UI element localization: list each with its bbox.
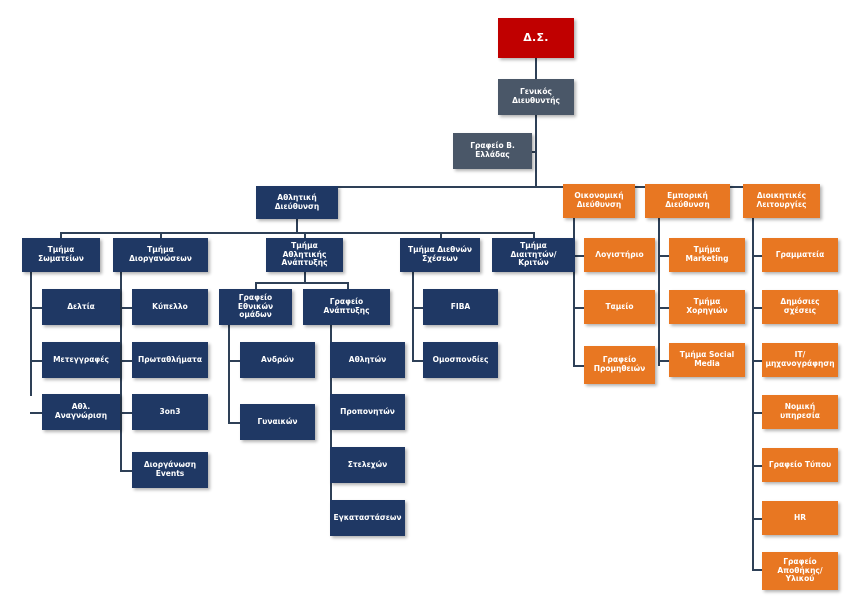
connector-events-4 (120, 470, 132, 472)
connector-dev-down (304, 272, 306, 282)
node-clubs-child-1[interactable]: Δελτία (42, 289, 120, 325)
connector-nat-2 (228, 422, 240, 424)
connector-events-3 (120, 412, 132, 414)
node-admin-child-7[interactable]: Γραφείο Αποθήκης/Υλικού (762, 552, 838, 590)
node-admin-child-2[interactable]: Δημόσιες σχέσεις (762, 290, 838, 324)
node-events-child-1[interactable]: Κύπελλο (132, 289, 208, 325)
connector-drop-natteams (255, 282, 257, 289)
node-clubs-child-3[interactable]: Αθλ. Αναγνώριση (42, 394, 120, 430)
node-dept-clubs[interactable]: Τμήμα Σωματείων (22, 238, 100, 272)
node-events-child-4[interactable]: Διοργάνωση Events (132, 452, 208, 488)
connector-clubs-spine (30, 272, 32, 396)
node-north-greece-office[interactable]: Γραφείο Β. Ελλάδας (453, 133, 532, 169)
connector-events-2 (120, 360, 132, 362)
connector-dev-bar (255, 282, 347, 284)
node-board-of-directors[interactable]: Δ.Σ. (498, 18, 574, 58)
node-dept-sport-development[interactable]: Τμήμα Αθλητικής Ανάπτυξης (266, 238, 343, 272)
node-dept-referees[interactable]: Τμήμα Διαιτητών/Κριτών (492, 238, 575, 272)
connector-clubs-1 (30, 307, 42, 309)
node-admin-operations[interactable]: Διοικητικές Λειτουργίες (743, 184, 820, 218)
node-international-child-2[interactable]: Ομοσπονδίες (423, 342, 498, 378)
node-development-child-3[interactable]: Στελεχών (330, 447, 405, 483)
node-events-child-2[interactable]: Πρωταθλήματα (132, 342, 208, 378)
connector-admin-spine (752, 218, 754, 569)
node-development-child-1[interactable]: Αθλητών (330, 342, 405, 378)
node-clubs-child-2[interactable]: Μετεγγραφές (42, 342, 120, 378)
connector-root-to-gd (535, 58, 537, 79)
connector-nat-spine (228, 325, 230, 423)
connector-clubs-3 (30, 412, 42, 414)
node-finance-child-2[interactable]: Ταμείο (584, 290, 655, 324)
node-admin-child-4[interactable]: Νομική υπηρεσία (762, 395, 838, 429)
connector-sport-down (296, 219, 298, 232)
connector-events-spine (120, 272, 122, 471)
connector-nat-1 (228, 360, 240, 362)
node-national-child-2[interactable]: Γυναικών (240, 404, 315, 440)
node-commercial-child-1[interactable]: Τμήμα Marketing (669, 238, 745, 272)
node-finance-direction[interactable]: Οικονομική Διεύθυνση (563, 184, 635, 218)
node-office-development[interactable]: Γραφείο Ανάπτυξης (303, 289, 390, 325)
node-admin-child-5[interactable]: Γραφείο Τύπου (762, 448, 838, 482)
node-finance-child-3[interactable]: Γραφείο Προμηθειών (584, 346, 655, 384)
node-development-child-4[interactable]: Εγκαταστάσεων (330, 500, 405, 536)
node-events-child-3[interactable]: 3on3 (132, 394, 208, 430)
node-sport-direction[interactable]: Αθλητική Διεύθυνση (256, 186, 338, 219)
node-admin-child-1[interactable]: Γραμματεία (762, 238, 838, 272)
connector-north-office (532, 151, 537, 153)
node-finance-child-1[interactable]: Λογιστήριο (584, 238, 655, 272)
connector-clubs-2 (30, 360, 42, 362)
connector-level2-bar (60, 232, 534, 234)
node-commercial-child-3[interactable]: Τμήμα Social Media (669, 343, 745, 377)
node-commercial-direction[interactable]: Εμπορική Διεύθυνση (645, 184, 730, 218)
org-chart-canvas: Δ.Σ. Γενικός Διευθυντής Γραφείο Β. Ελλάδ… (0, 0, 865, 600)
node-general-director[interactable]: Γενικός Διευθυντής (498, 79, 574, 115)
node-international-child-1[interactable]: FIBA (423, 289, 498, 325)
node-dept-international[interactable]: Τμήμα Διεθνών Σχέσεων (400, 238, 480, 272)
connector-drop-devoffice (347, 282, 349, 289)
connector-commercial-spine (658, 218, 660, 366)
node-admin-child-6[interactable]: HR (762, 501, 838, 535)
node-commercial-child-2[interactable]: Τμήμα Χορηγιών (669, 290, 745, 324)
node-office-national-teams[interactable]: Γραφείο Εθνικών ομάδων (219, 289, 292, 325)
node-admin-child-3[interactable]: IT/μηχανογράφηση (762, 343, 838, 377)
node-national-child-1[interactable]: Ανδρών (240, 342, 315, 378)
connector-events-1 (120, 307, 132, 309)
node-development-child-2[interactable]: Προπονητών (330, 394, 405, 430)
node-dept-events[interactable]: Τμήμα Διοργανώσεων (113, 238, 208, 272)
connector-intl-spine (412, 272, 414, 361)
